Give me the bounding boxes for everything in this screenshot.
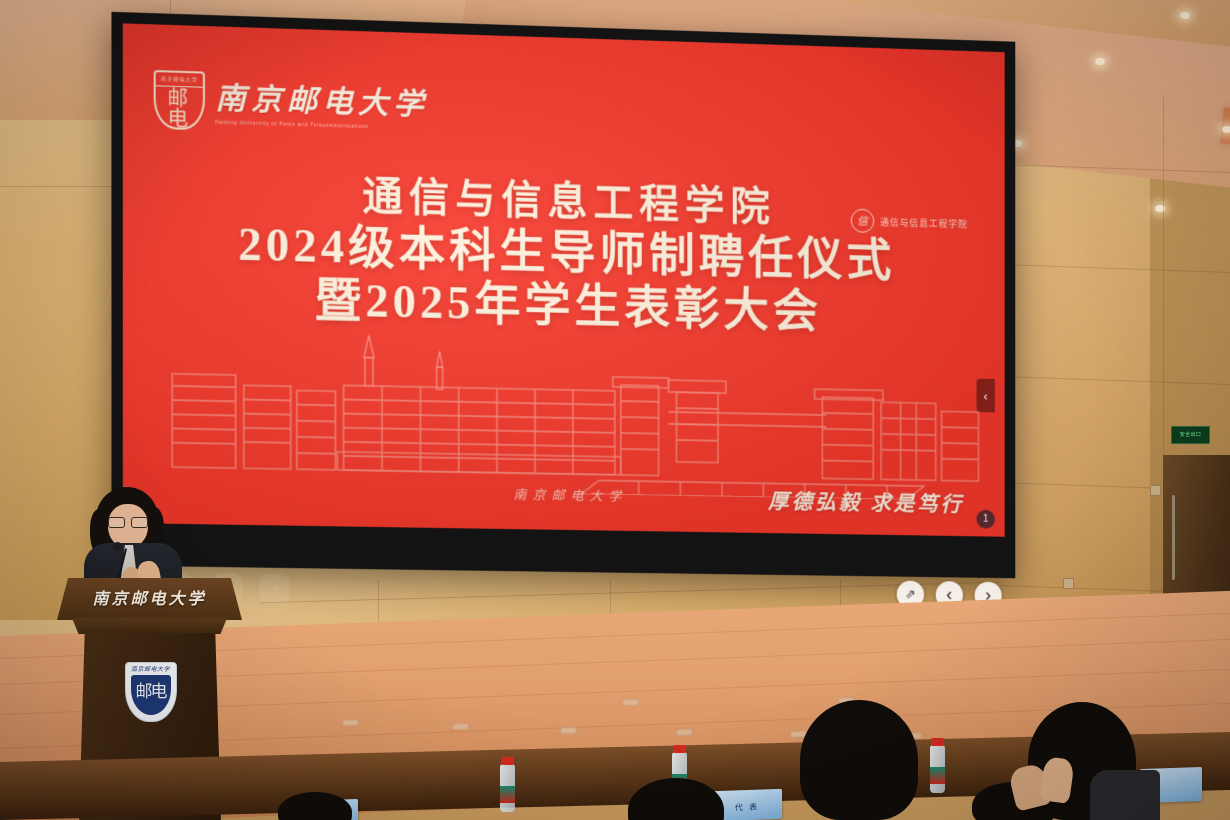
podium-neck	[67, 618, 232, 634]
university-crest-icon: 南京邮电大学 邮电	[154, 70, 201, 126]
bottle-cap	[501, 757, 514, 765]
wall-outlet	[1150, 485, 1161, 496]
speaker-glasses-icon	[108, 517, 148, 526]
floor-socket	[560, 727, 577, 735]
event-title-block: 通信与信息工程学院 2024级本科生导师制聘任仪式 暨2025年学生表彰大会	[123, 168, 1005, 342]
campus-skyline-illustration	[164, 325, 982, 501]
emergency-exit-sign: 安全出口	[1171, 426, 1210, 444]
university-name-block: 南京邮电大学 Nanjing University of Posts and T…	[215, 73, 428, 132]
crest-top-text: 南京邮电大学	[156, 72, 203, 88]
podium-emblem-glyph: 邮电	[126, 683, 176, 700]
school-motto: 厚德弘毅 求是笃行	[768, 485, 964, 518]
university-lockup: 南京邮电大学 邮电 南京邮电大学 Nanjing University of P…	[154, 70, 429, 133]
exit-sign-label: 安全出口	[1180, 433, 1202, 438]
podium-university-name: 南京邮电大学	[57, 585, 242, 609]
audience-shoulder	[1090, 770, 1160, 820]
university-name-cn: 南京邮电大学	[215, 73, 428, 124]
floor-socket	[452, 723, 469, 731]
collapse-panel-button[interactable]: ‹	[977, 379, 995, 413]
wall-seam	[1163, 95, 1164, 455]
lecture-hall-photo: 安全出口 南京邮电大学 邮电 南京邮电大学 Nanjing University…	[0, 0, 1230, 820]
podium-emblem-icon: 南京邮电大学 邮电	[125, 662, 175, 720]
led-display-bezel: 南京邮电大学 邮电 南京邮电大学 Nanjing University of P…	[111, 12, 1015, 578]
ceiling-spotlight	[1095, 58, 1105, 65]
campus-name-calligraphy: 南京邮电大学	[513, 484, 627, 505]
microphone-head	[113, 542, 122, 551]
floor-socket	[676, 729, 693, 737]
led-display-screen: 南京邮电大学 邮电 南京邮电大学 Nanjing University of P…	[123, 23, 1005, 536]
bottle-label	[500, 786, 515, 803]
ceiling-spotlight	[1222, 126, 1230, 133]
crest-glyph: 邮电	[168, 89, 192, 130]
page-number-badge[interactable]: 1	[977, 510, 995, 529]
podium-emblem-top-text: 南京邮电大学	[126, 664, 176, 673]
bottle-cap	[931, 738, 944, 746]
share-overlay-button[interactable]: ⇗	[259, 574, 290, 605]
floor-socket	[622, 699, 639, 707]
bottle-label	[930, 767, 945, 784]
bottle-cap	[673, 745, 686, 753]
floor-socket	[342, 719, 359, 727]
wall-outlet	[1063, 578, 1074, 589]
audience-head	[800, 700, 918, 820]
ceiling-spotlight	[1180, 12, 1190, 19]
door-handle[interactable]	[1172, 495, 1175, 580]
